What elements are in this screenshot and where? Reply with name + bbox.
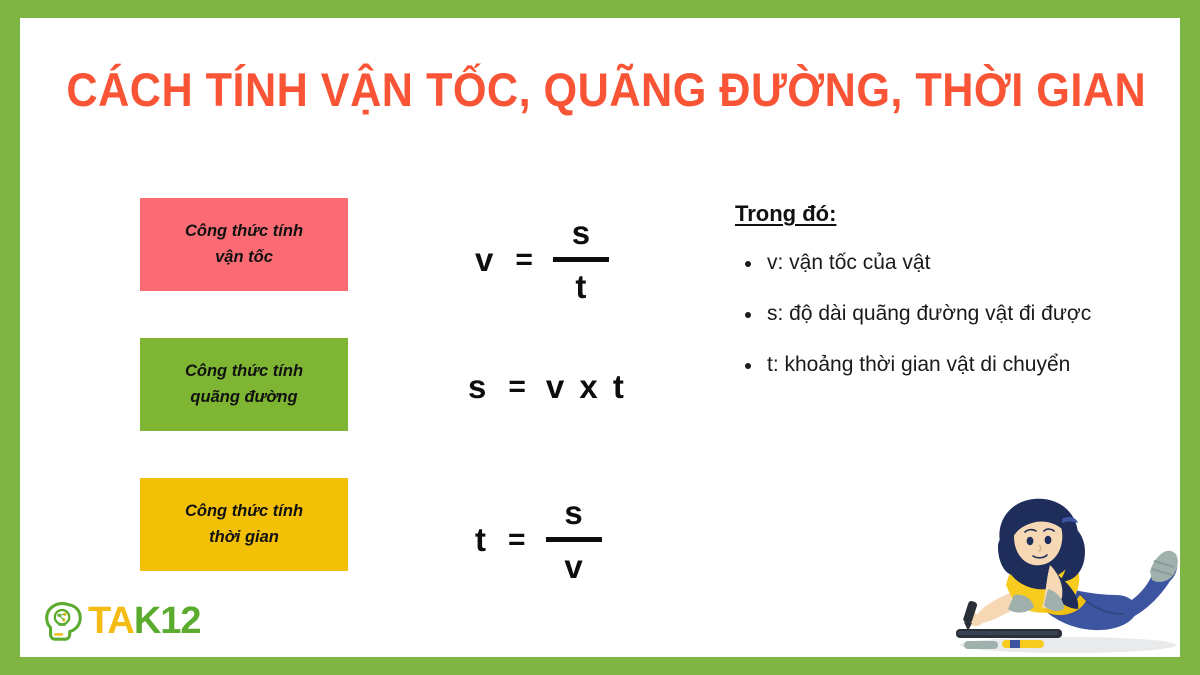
- head-lightbulb-icon: [40, 598, 86, 644]
- formula-distance-rhs: v x t: [546, 368, 627, 406]
- legend: Trong đó: v: vận tốc của vật s: độ dài q…: [735, 201, 1165, 404]
- formula-time-lhs: t: [475, 521, 486, 559]
- label-box-time: Công thức tính thời gian: [140, 478, 348, 571]
- list-item: v: vận tốc của vật: [735, 251, 1165, 275]
- formula-time-equals: =: [508, 523, 526, 557]
- formula-velocity-fraction: s t: [553, 213, 609, 306]
- label-box-velocity-line1: Công thức tính: [185, 219, 303, 245]
- legend-item-text: t: khoảng thời gian vật di chuyển: [767, 353, 1070, 376]
- slide-frame: CÁCH TÍNH VẬN TỐC, QUÃNG ĐƯỜNG, THỜI GIA…: [0, 0, 1200, 675]
- logo-text-ta: TA: [88, 600, 134, 642]
- bullet-icon: [745, 312, 751, 318]
- formula-velocity-numerator: s: [564, 213, 598, 252]
- label-box-distance: Công thức tính quãng đường: [140, 338, 348, 431]
- formula-distance-lhs: s: [468, 368, 486, 406]
- bullet-icon: [745, 261, 751, 267]
- label-box-distance-line1: Công thức tính: [185, 359, 303, 385]
- legend-item-text: v: vận tốc của vật: [767, 251, 930, 274]
- formula-velocity-equals: =: [515, 243, 533, 277]
- label-box-time-line2: thời gian: [209, 525, 279, 551]
- girl-lying-writing-illustration: [918, 489, 1180, 657]
- formula-time-fraction: s v: [546, 493, 602, 586]
- slide-canvas: CÁCH TÍNH VẬN TỐC, QUÃNG ĐƯỜNG, THỜI GIA…: [20, 18, 1180, 657]
- fraction-bar-icon: [553, 257, 609, 262]
- formula-time-denominator: v: [557, 547, 591, 586]
- legend-item-text: s: độ dài quãng đường vật đi được: [767, 302, 1091, 325]
- formula-distance: s = v x t: [468, 368, 627, 406]
- logo-text: TAK12: [88, 602, 201, 640]
- label-box-velocity-line2: vận tốc: [215, 245, 273, 271]
- formula-distance-equals: =: [508, 370, 526, 404]
- formula-velocity-denominator: t: [564, 267, 598, 306]
- formula-velocity-lhs: v: [475, 241, 493, 279]
- label-box-time-line1: Công thức tính: [185, 499, 303, 525]
- formula-velocity: v = s t: [475, 213, 609, 306]
- fraction-bar-icon: [546, 537, 602, 542]
- label-box-velocity: Công thức tính vận tốc: [140, 198, 348, 291]
- legend-title: Trong đó:: [735, 201, 1165, 227]
- list-item: s: độ dài quãng đường vật đi được: [735, 302, 1165, 326]
- formula-time-numerator: s: [557, 493, 591, 532]
- logo-text-k12: K12: [134, 600, 201, 642]
- brand-logo: TAK12: [40, 598, 201, 644]
- bullet-icon: [745, 363, 751, 369]
- list-item: t: khoảng thời gian vật di chuyển: [735, 353, 1165, 377]
- formula-time: t = s v: [475, 493, 602, 586]
- label-box-distance-line2: quãng đường: [190, 385, 297, 411]
- page-title: CÁCH TÍNH VẬN TỐC, QUÃNG ĐƯỜNG, THỜI GIA…: [66, 62, 1133, 117]
- legend-list: v: vận tốc của vật s: độ dài quãng đường…: [735, 251, 1165, 377]
